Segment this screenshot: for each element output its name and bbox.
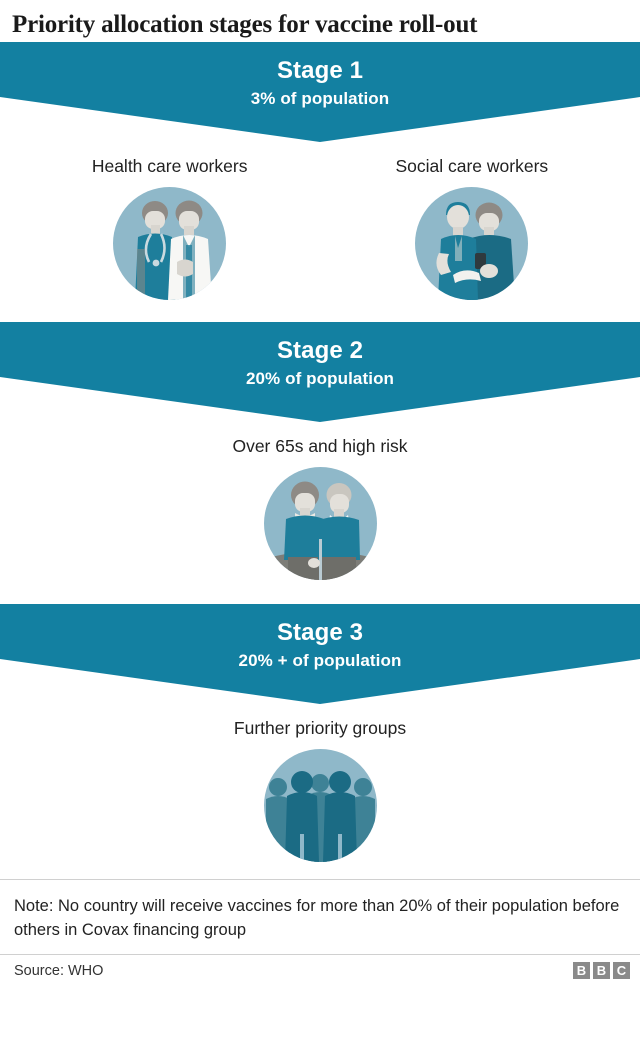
stage-banner-2: Stage 2 20% of population — [0, 322, 640, 422]
bbc-logo-letter-2: B — [593, 962, 610, 979]
group-label: Further priority groups — [234, 716, 406, 740]
stage-title-3: Stage 3 — [0, 618, 640, 648]
stage-banner-1: Stage 1 3% of population — [0, 42, 640, 142]
stage-subtitle-1: 3% of population — [0, 86, 640, 112]
social-care-workers-illustration-icon — [415, 187, 528, 300]
group-over-65s-high-risk: Over 65s and high risk — [232, 434, 407, 580]
footer-bar: Source: WHO B B C — [0, 955, 640, 979]
page-title: Priority allocation stages for vaccine r… — [0, 0, 640, 42]
stage-2-groups: Over 65s and high risk — [0, 434, 640, 580]
group-social-care-workers: Social care workers — [395, 154, 548, 300]
footnote: Note: No country will receive vaccines f… — [0, 880, 640, 954]
stage-1-groups: Health care workers — [0, 154, 640, 300]
stage-subtitle-3: 20% + of population — [0, 648, 640, 674]
bbc-logo-letter-1: B — [573, 962, 590, 979]
health-care-workers-illustration-icon — [113, 187, 226, 300]
group-label: Social care workers — [395, 154, 548, 178]
crowd-silhouette-illustration-icon — [264, 749, 377, 862]
bbc-logo-letter-3: C — [613, 962, 630, 979]
stage-3-groups: Further priority groups — [0, 716, 640, 862]
source-label: Source: WHO — [14, 963, 103, 979]
group-label: Over 65s and high risk — [232, 434, 407, 458]
stage-banner-3: Stage 3 20% + of population — [0, 604, 640, 704]
stage-title-2: Stage 2 — [0, 336, 640, 366]
stage-subtitle-2: 20% of population — [0, 366, 640, 392]
group-health-care-workers: Health care workers — [92, 154, 248, 300]
infographic-root: Priority allocation stages for vaccine r… — [0, 0, 640, 1040]
stage-title-1: Stage 1 — [0, 56, 640, 86]
bbc-logo: B B C — [573, 962, 630, 979]
group-further-priority-groups: Further priority groups — [234, 716, 406, 862]
elderly-couple-illustration-icon — [264, 467, 377, 580]
group-label: Health care workers — [92, 154, 248, 178]
